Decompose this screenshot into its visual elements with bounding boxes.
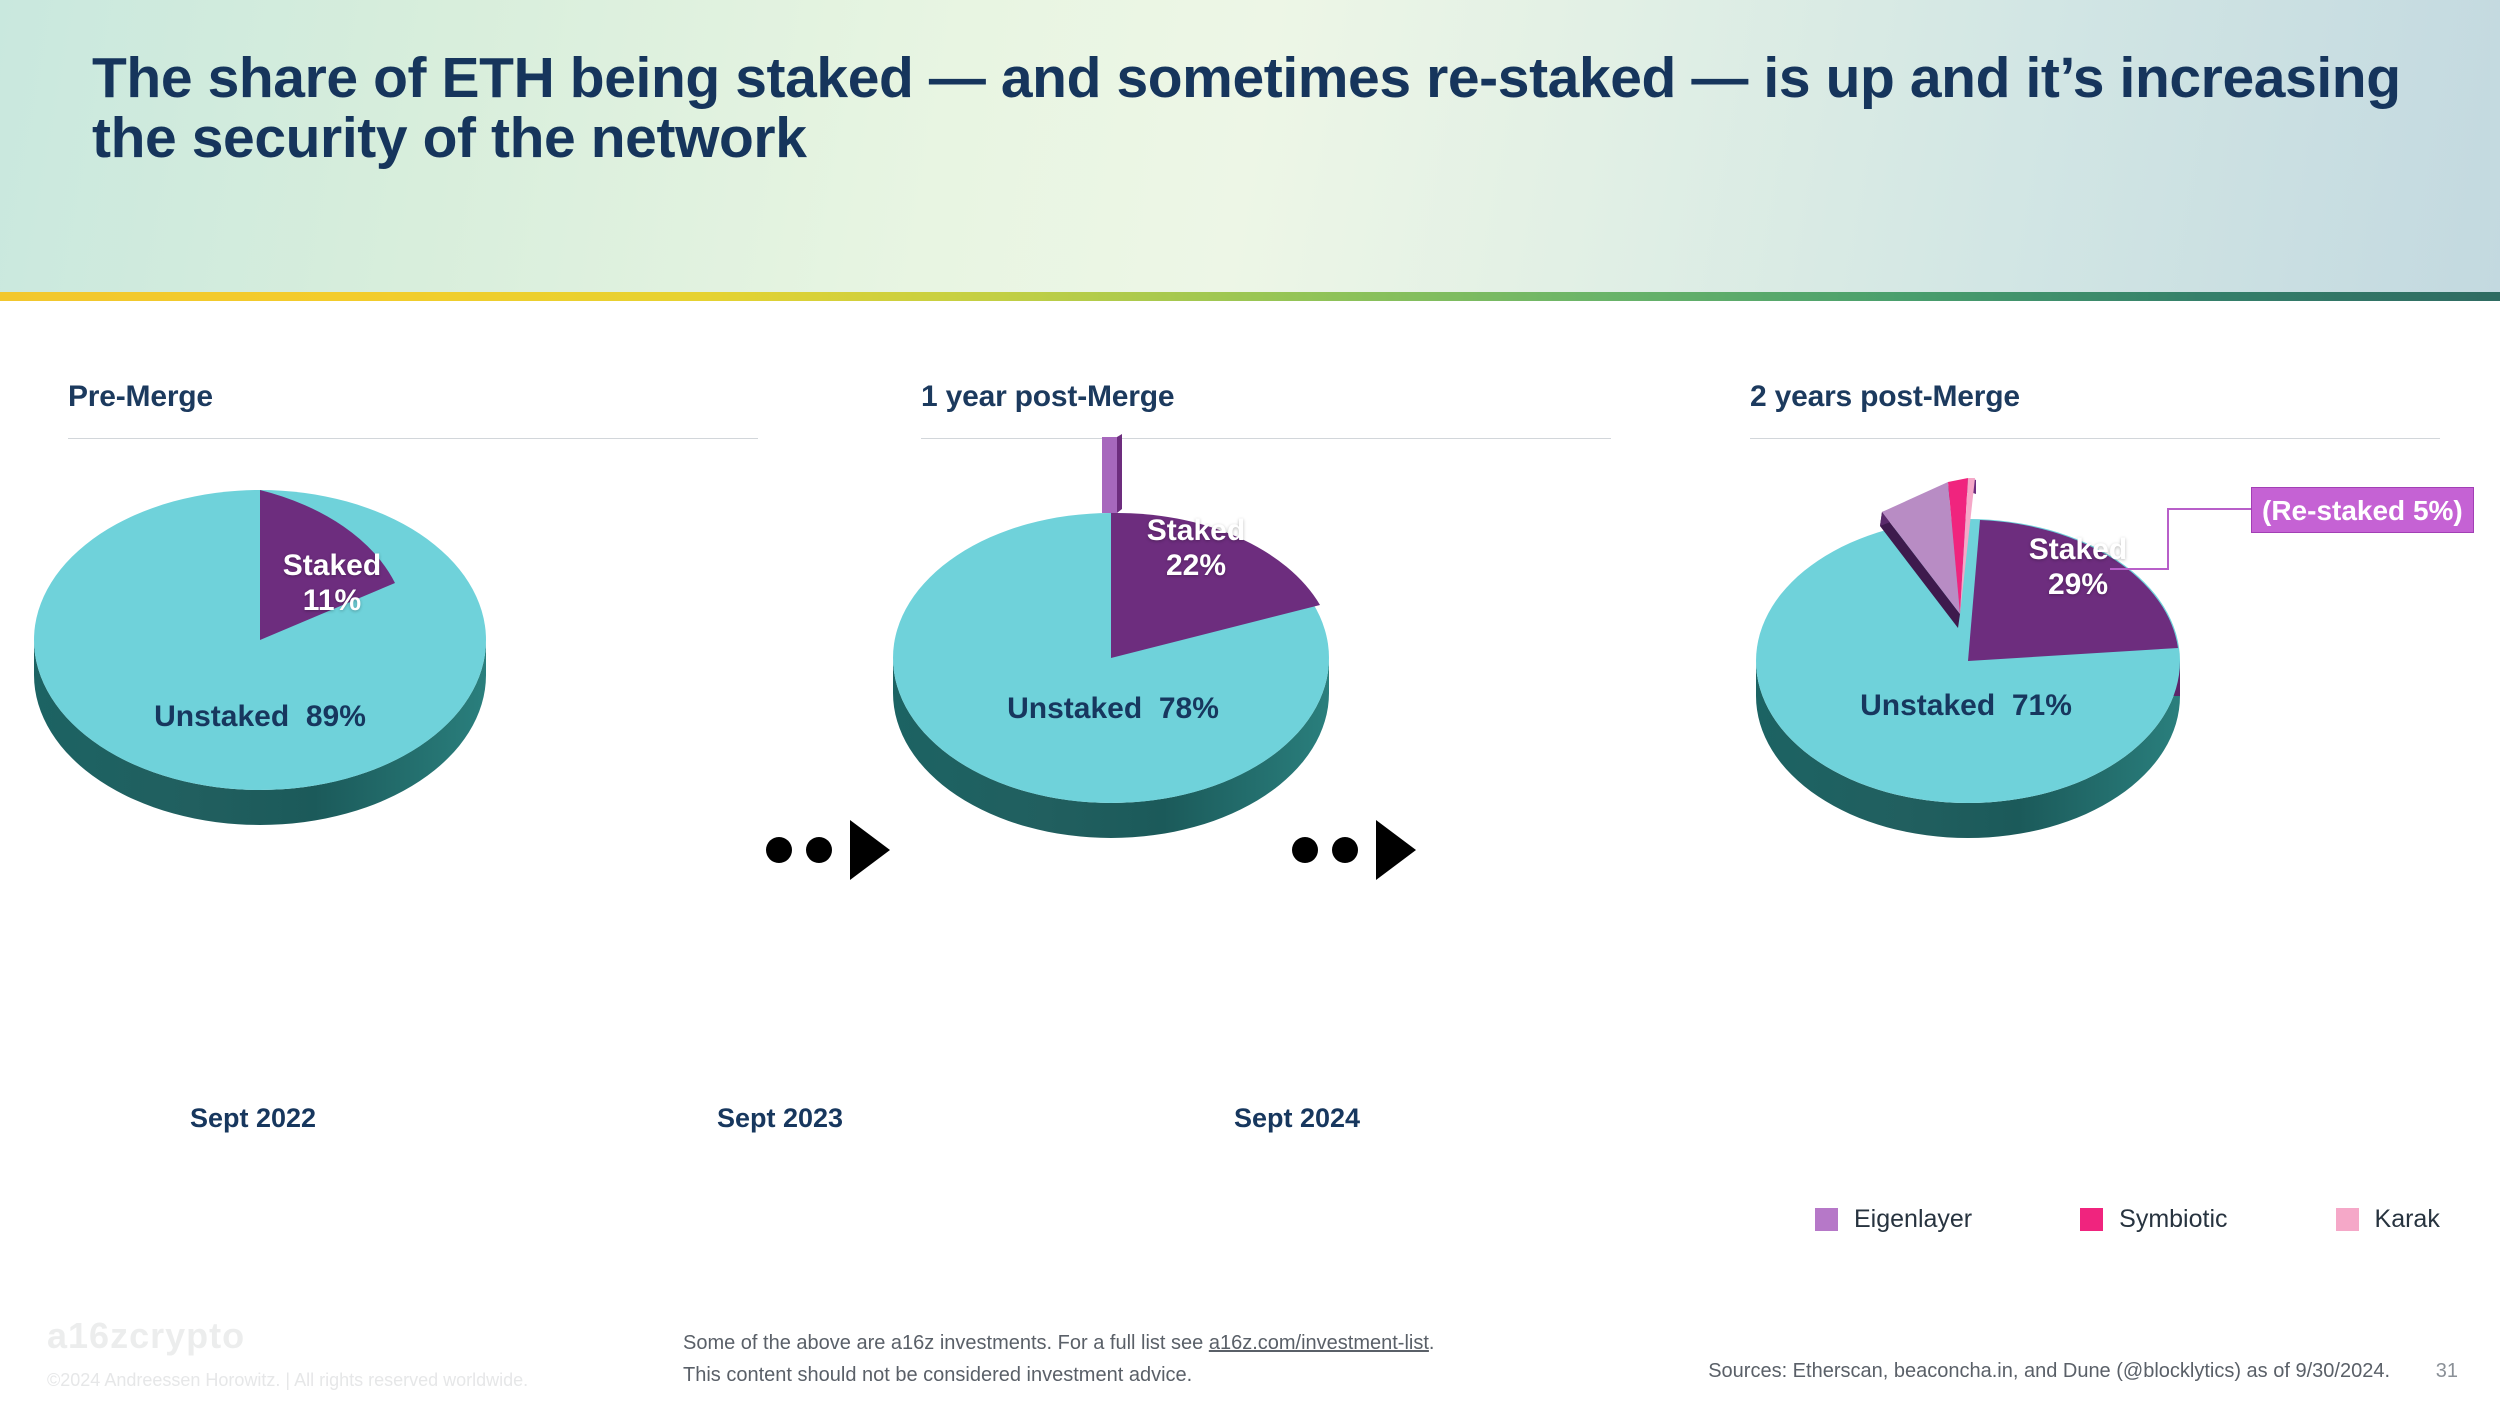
a16zcrypto-logo: a16zcrypto [47,1315,245,1357]
restaking-legend: Eigenlayer Symbiotic Karak [1815,1205,2440,1234]
slide-root: The share of ETH being staked — and some… [0,0,2500,1406]
legend-label-symbiotic: Symbiotic [2119,1205,2227,1234]
unstaked-label-2024: Unstaked 71% [1816,689,2116,723]
arrow-triangle-icon [850,820,890,880]
restaked-sliver-edge-2023 [1117,434,1122,513]
unstaked-label-2022: Unstaked 89% [110,700,410,734]
disclaimer-line-2: This content should not be considered in… [683,1359,1434,1391]
column-title-1: Pre-Merge [68,380,758,414]
column-rule-3 [1750,438,2440,439]
restaked-sliver-2023 [1102,437,1117,513]
arrow-dot-icon [1292,837,1318,863]
legend-label-karak: Karak [2375,1205,2440,1234]
legend-swatch-eigenlayer [1815,1208,1838,1231]
disclaimer-prefix: Some of the above are a16z investments. … [683,1332,1209,1354]
legend-item-symbiotic: Symbiotic [2080,1205,2227,1234]
date-label-2024: Sept 2024 [1097,1103,1497,1134]
column-rule-1 [68,438,758,439]
legend-swatch-karak [2336,1208,2359,1231]
disclaimer-suffix: . [1429,1332,1435,1354]
header-accent-bar [0,292,2500,301]
pie-chart-2023: Staked 22% Unstaked 78% [888,455,1348,925]
arrow-separator-1 [766,820,890,880]
slide-header: The share of ETH being staked — and some… [0,0,2500,298]
staked-label-2022: Staked 11% [262,548,402,619]
unstaked-label-2023: Unstaked 78% [963,692,1263,726]
arrow-dot-icon [766,837,792,863]
chart-column-1yr-post-merge: 1 year post-Merge [921,380,1611,439]
arrow-separator-2 [1292,820,1416,880]
date-label-2023: Sept 2023 [580,1103,980,1134]
disclaimer-line-1: Some of the above are a16z investments. … [683,1327,1434,1359]
column-title-3: 2 years post-Merge [1750,380,2440,414]
chart-column-pre-merge: Pre-Merge [68,380,758,439]
legend-item-karak: Karak [2336,1205,2440,1234]
arrow-dot-icon [1332,837,1358,863]
legend-label-eigenlayer: Eigenlayer [1854,1205,1972,1234]
investment-list-link[interactable]: a16z.com/investment-list [1209,1332,1429,1354]
arrow-triangle-icon [1376,820,1416,880]
page-number: 31 [2436,1360,2458,1383]
restaked-callout: (Re-staked 5%) [2251,487,2474,533]
pie-svg-2022 [30,470,510,900]
pie-svg-2023 [888,455,1348,925]
arrow-dot-icon [806,837,832,863]
pie-chart-2022: Staked 11% Unstaked 89% [30,470,510,900]
callout-leader-line [2110,487,2260,577]
copyright-text: ©2024 Andreessen Horowitz. | All rights … [47,1370,528,1391]
column-rule-2 [921,438,1611,439]
page-title: The share of ETH being staked — and some… [92,48,2422,169]
column-title-2: 1 year post-Merge [921,380,1611,414]
legend-swatch-symbiotic [2080,1208,2103,1231]
staked-label-2023: Staked 22% [1126,513,1266,584]
legend-item-eigenlayer: Eigenlayer [1815,1205,1972,1234]
date-label-2022: Sept 2022 [53,1103,453,1134]
sources-text: Sources: Etherscan, beaconcha.in, and Du… [1708,1360,2390,1383]
chart-column-2yr-post-merge: 2 years post-Merge [1750,380,2440,439]
disclaimer-text: Some of the above are a16z investments. … [683,1327,1434,1392]
